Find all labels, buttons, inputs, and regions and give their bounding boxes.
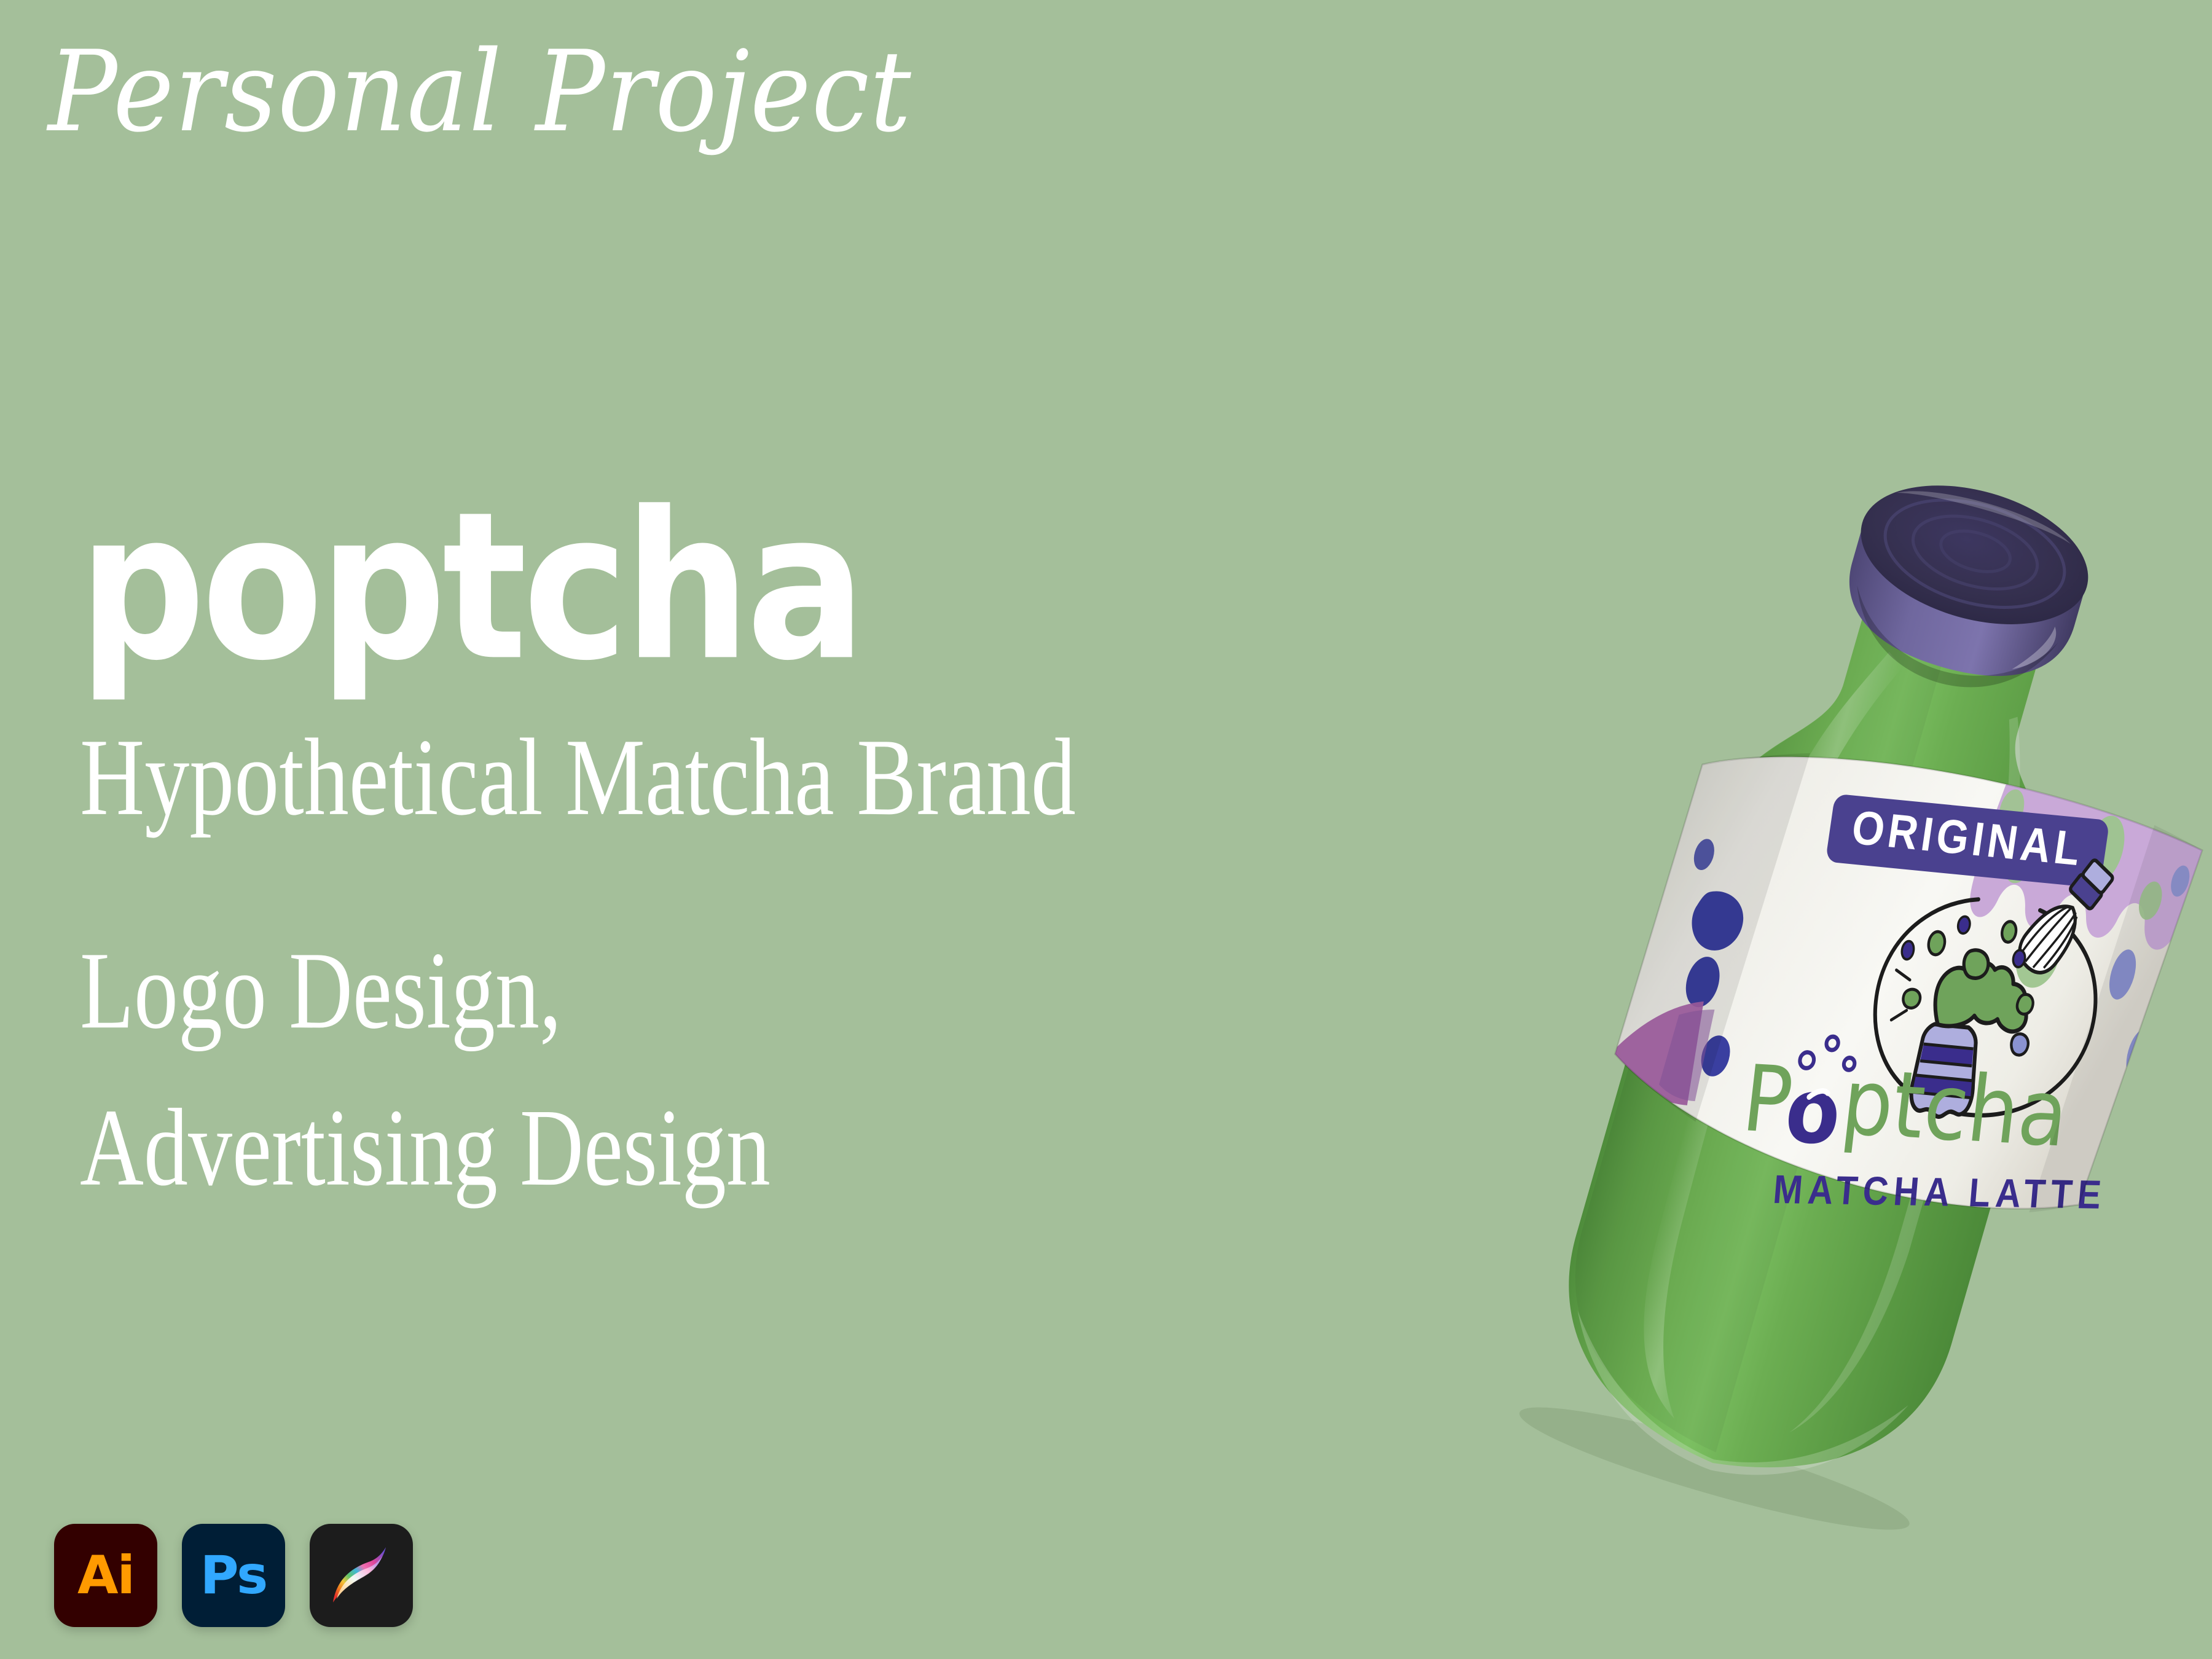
role-line-1: Logo Design, xyxy=(80,912,771,1070)
product-bottle-image: ORIGINAL xyxy=(1462,467,2212,1634)
procreate-brush-stroke-icon xyxy=(324,1539,398,1612)
logotype-letters-rest: ptcha xyxy=(1837,1048,2074,1167)
project-subtitle: Hypothetical Matcha Brand xyxy=(80,722,1076,832)
photoshop-glyph: Ps xyxy=(200,1549,267,1602)
project-slide: Personal Project poptcha Hypothetical Ma… xyxy=(0,0,2212,1659)
role-line-2: Advertising Design xyxy=(80,1070,771,1227)
illustrator-glyph: Ai xyxy=(77,1549,134,1602)
bottle-illustration: ORIGINAL xyxy=(1462,467,2212,1634)
eyebrow-label: Personal Project xyxy=(48,36,912,147)
software-tool-list: Ai Ps xyxy=(54,1524,413,1627)
procreate-icon xyxy=(310,1524,413,1627)
project-roles: Logo Design, Advertising Design xyxy=(80,912,771,1226)
adobe-illustrator-icon: Ai xyxy=(54,1524,157,1627)
page-title: poptcha xyxy=(79,485,862,689)
adobe-photoshop-icon: Ps xyxy=(182,1524,285,1627)
